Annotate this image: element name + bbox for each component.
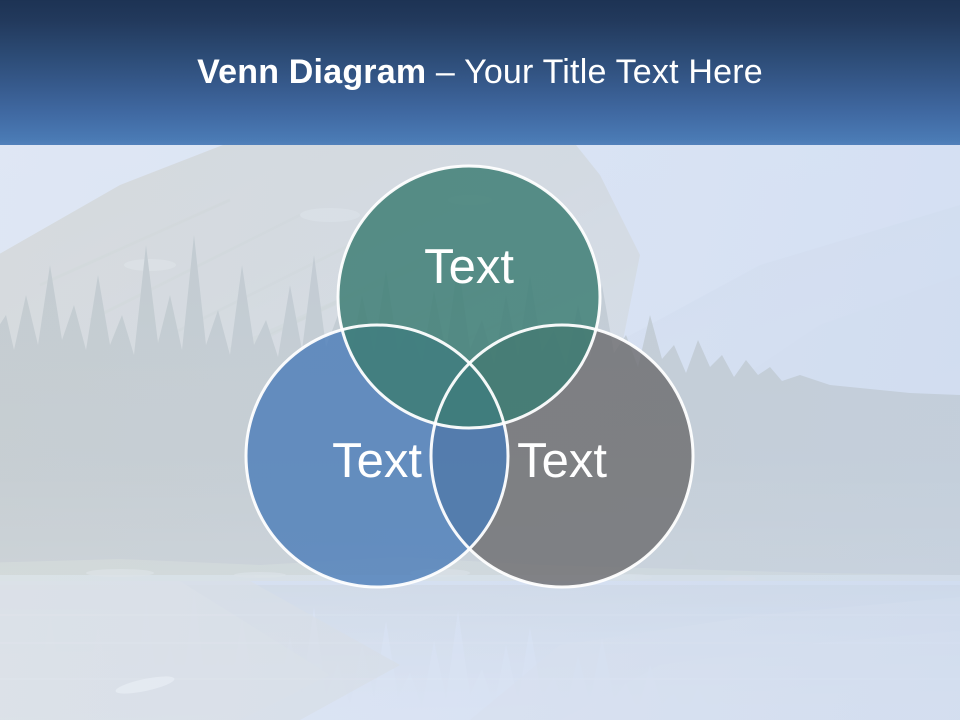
venn-label-top[interactable]: Text xyxy=(369,243,569,292)
slide-canvas: Venn Diagram – Your Title Text Here Text… xyxy=(0,0,960,720)
venn-circles-artwork xyxy=(0,0,960,720)
venn-diagram: Text Text Text xyxy=(0,0,960,720)
venn-label-left[interactable]: Text xyxy=(277,437,477,486)
venn-label-right[interactable]: Text xyxy=(462,437,662,486)
